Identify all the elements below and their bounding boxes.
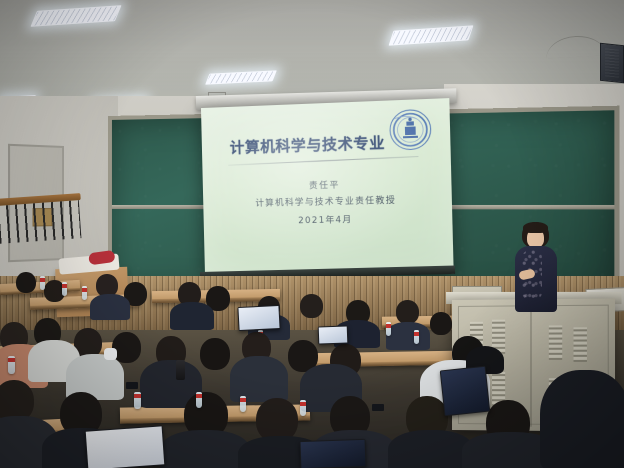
smartphone: [372, 404, 384, 411]
laptop[interactable]: [85, 425, 166, 468]
slide-divider-rule: [228, 156, 418, 166]
student-head: [300, 294, 323, 318]
water-bottle: [82, 286, 87, 300]
laptop[interactable]: [318, 325, 349, 344]
student-torso: [160, 430, 250, 468]
water-bottle: [386, 322, 391, 336]
water-bottle: [196, 392, 202, 408]
lecturer-fringe: [523, 222, 548, 233]
water-bottle: [62, 282, 67, 296]
slide-date: 2021年4月: [204, 211, 453, 228]
student-torso: [230, 356, 288, 402]
wall-speaker-icon: [600, 43, 624, 84]
water-bottle: [240, 396, 246, 412]
student-torso: [386, 322, 430, 350]
student-head: [430, 312, 452, 335]
student-torso: [90, 294, 130, 320]
water-bottle: [40, 276, 45, 290]
water-bottle: [300, 400, 306, 416]
student-head: [200, 338, 230, 370]
slide-title: 计算机科学与技术专业: [230, 132, 386, 158]
thermos: [176, 360, 185, 380]
student-torso: [170, 302, 214, 330]
water-bottle: [134, 392, 141, 409]
water-bottle: [414, 330, 419, 344]
balcony-railing: [0, 193, 83, 245]
laptop[interactable]: [300, 439, 367, 468]
student-head: [396, 300, 419, 324]
lecture-hall-photo: 计算机科学与技术专业 责任平 计算机科学与技术专业责任教授 2021年4月: [0, 0, 624, 468]
student-head: [16, 272, 36, 293]
face-mask: [104, 348, 117, 360]
water-bottle: [8, 356, 15, 374]
student-head: [112, 332, 141, 363]
lecturer: [508, 222, 560, 314]
slide-presenter-role: 计算机科学与技术专业责任教授: [203, 192, 452, 210]
laptop[interactable]: [237, 305, 280, 331]
university-seal-emblem-icon: [387, 107, 433, 152]
slide-presenter-name: 责任平: [203, 175, 452, 194]
laptop[interactable]: [440, 366, 491, 417]
projection-screen: 计算机科学与技术专业 责任平 计算机科学与技术专业责任教授 2021年4月: [201, 98, 454, 276]
smartphone: [126, 382, 138, 389]
student-torso: [540, 370, 624, 468]
